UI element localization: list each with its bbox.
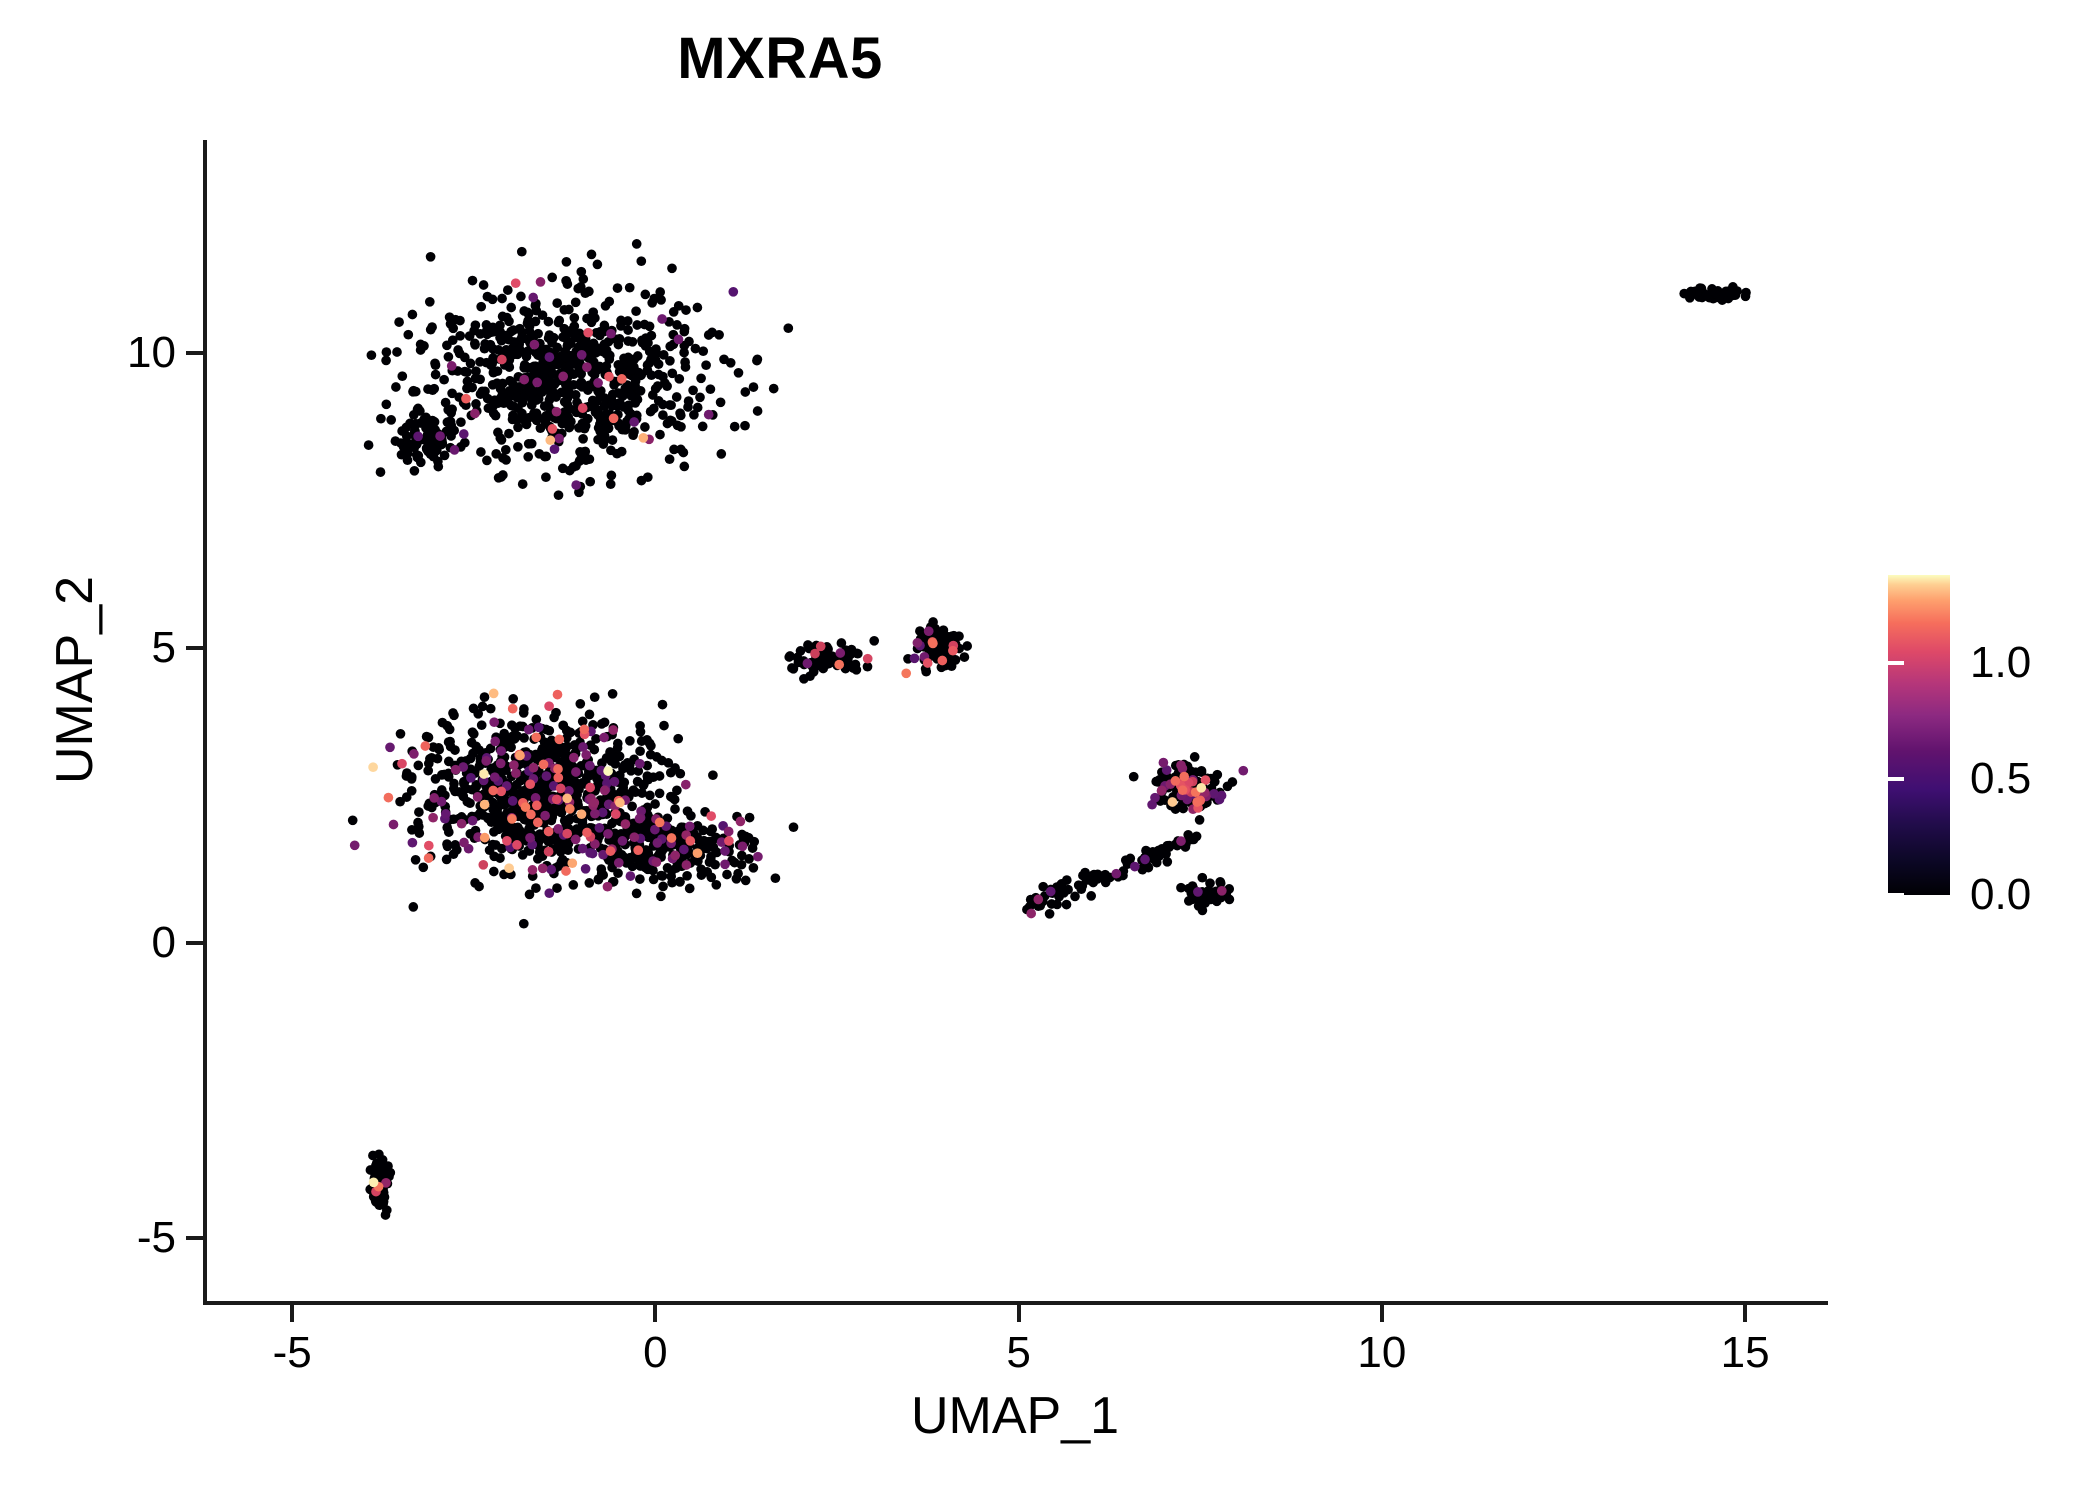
y-axis-line: [203, 140, 207, 1305]
scatter-point: [590, 692, 600, 702]
scatter-point: [580, 340, 590, 350]
scatter-point: [478, 702, 488, 712]
colorbar-tick-label: 0.0: [1970, 872, 2031, 918]
scatter-point: [1207, 893, 1217, 903]
scatter-point: [869, 636, 879, 646]
scatter-point: [816, 641, 826, 651]
scatter-point: [376, 467, 386, 477]
scatter-point: [516, 292, 526, 302]
scatter-point: [621, 819, 631, 829]
scatter-point: [803, 659, 813, 669]
scatter-point: [663, 758, 673, 768]
scatter-point: [583, 383, 593, 393]
scatter-point: [524, 439, 534, 449]
scatter-point: [679, 348, 689, 358]
scatter-point: [498, 312, 508, 322]
scatter-point: [720, 846, 730, 856]
scatter-point: [674, 374, 684, 384]
scatter-point: [679, 845, 689, 855]
scatter-point: [422, 732, 432, 742]
scatter-point: [684, 396, 694, 406]
scatter-point: [633, 351, 643, 361]
scatter-point: [686, 811, 696, 821]
scatter-point: [379, 1160, 389, 1170]
scatter-point: [549, 713, 559, 723]
scatter-point: [702, 844, 712, 854]
scatter-point: [456, 417, 466, 427]
scatter-point: [707, 328, 717, 338]
scatter-point: [666, 792, 676, 802]
scatter-point: [1741, 291, 1751, 301]
scatter-point: [541, 411, 551, 421]
scatter-point: [466, 773, 476, 783]
scatter-point: [769, 384, 779, 394]
scatter-point: [490, 737, 500, 747]
scatter-point: [368, 762, 378, 772]
scatter-point: [623, 325, 633, 335]
scatter-point: [667, 878, 677, 888]
scatter-point: [606, 329, 616, 339]
scatter-point: [418, 862, 428, 872]
scatter-point: [635, 874, 645, 884]
scatter-point: [1129, 772, 1139, 782]
scatter-point: [672, 320, 682, 330]
scatter-point: [702, 867, 712, 877]
y-tick-mark: [186, 351, 203, 355]
y-tick-label: -5: [16, 1215, 176, 1261]
scatter-point: [659, 721, 669, 731]
scatter-point: [385, 1168, 395, 1178]
scatter-point: [502, 836, 512, 846]
scatter-point: [440, 451, 450, 461]
scatter-point: [852, 665, 862, 675]
scatter-point: [623, 406, 633, 416]
scatter-point: [771, 873, 781, 883]
scatter-point: [698, 422, 708, 432]
scatter-point: [392, 347, 402, 357]
scatter-point: [603, 766, 613, 776]
scatter-point: [716, 449, 726, 459]
scatter-point: [532, 378, 542, 388]
x-tick-mark: [290, 1305, 294, 1322]
scatter-point: [529, 763, 539, 773]
scatter-point: [569, 313, 579, 323]
scatter-point: [1196, 783, 1206, 793]
scatter-point: [613, 868, 623, 878]
scatter-point: [552, 298, 562, 308]
scatter-point: [711, 880, 721, 890]
scatter-point: [473, 792, 483, 802]
scatter-point: [424, 853, 434, 863]
colorbar-tick-mark: [2072, 893, 2088, 897]
scatter-point: [910, 653, 920, 663]
scatter-point: [519, 375, 529, 385]
scatter-point: [504, 429, 514, 439]
scatter-point: [562, 829, 572, 839]
scatter-point: [730, 422, 740, 432]
scatter-point: [592, 346, 602, 356]
scatter-point: [575, 699, 585, 709]
scatter-point: [519, 733, 529, 743]
scatter-point: [466, 359, 476, 369]
scatter-point: [728, 287, 738, 297]
scatter-point: [581, 864, 591, 874]
scatter-point: [635, 759, 645, 769]
scatter-point: [536, 277, 546, 287]
scatter-point: [503, 285, 513, 295]
scatter-point: [685, 836, 695, 846]
scatter-point: [544, 827, 554, 837]
scatter-point: [403, 455, 413, 465]
scatter-point: [576, 267, 586, 277]
scatter-point: [571, 835, 581, 845]
scatter-point: [552, 407, 562, 417]
scatter-point: [675, 408, 685, 418]
x-tick-mark: [1743, 1305, 1747, 1322]
scatter-point: [1162, 857, 1172, 867]
scatter-point: [600, 431, 610, 441]
scatter-point: [497, 294, 507, 304]
scatter-point: [475, 357, 485, 367]
scatter-point: [701, 360, 711, 370]
scatter-point: [408, 902, 418, 912]
scatter-point: [834, 660, 844, 670]
scatter-point: [620, 760, 630, 770]
scatter-point: [419, 341, 429, 351]
scatter-point: [561, 744, 571, 754]
scatter-point: [609, 752, 619, 762]
scatter-point: [517, 247, 527, 257]
scatter-point: [603, 882, 613, 892]
scatter-point: [708, 770, 718, 780]
scatter-point: [455, 787, 465, 797]
scatter-point: [655, 771, 665, 781]
scatter-point: [651, 384, 661, 394]
scatter-point: [496, 746, 506, 756]
scatter-point: [796, 646, 806, 656]
scatter-point: [585, 710, 595, 720]
x-axis-line: [203, 1301, 1828, 1305]
x-tick-mark: [1017, 1305, 1021, 1322]
scatter-point: [510, 724, 520, 734]
scatter-point: [611, 809, 621, 819]
scatter-point: [589, 798, 599, 808]
scatter-point: [901, 668, 911, 678]
scatter-point: [681, 780, 691, 790]
scatter-point: [608, 689, 618, 699]
scatter-point: [450, 745, 460, 755]
scatter-point: [740, 387, 750, 397]
plot-panel: [205, 140, 1825, 1303]
scatter-point: [948, 646, 958, 656]
scatter-point: [386, 415, 396, 425]
scatter-point: [605, 351, 615, 361]
scatter-point: [600, 393, 610, 403]
scatter-point: [511, 768, 521, 778]
scatter-point: [658, 882, 668, 892]
scatter-point: [1176, 836, 1186, 846]
scatter-point: [530, 340, 540, 350]
scatter-point: [606, 846, 616, 856]
scatter-point: [423, 384, 433, 394]
scatter-point: [403, 438, 413, 448]
scatter-point: [477, 720, 487, 730]
scatter-point: [629, 417, 639, 427]
scatter-point: [632, 889, 642, 899]
scatter-point: [540, 811, 550, 821]
scatter-point: [544, 888, 554, 898]
scatter-point: [403, 330, 413, 340]
scatter-point: [519, 363, 529, 373]
scatter-point: [1100, 870, 1110, 880]
scatter-point: [1726, 288, 1736, 298]
scatter-point: [741, 876, 751, 886]
scatter-point: [716, 397, 726, 407]
scatter-point: [604, 372, 614, 382]
scatter-point: [525, 779, 535, 789]
scatter-point: [376, 414, 386, 424]
scatter-point: [551, 392, 561, 402]
scatter-point: [595, 327, 605, 337]
x-tick-mark: [653, 1305, 657, 1322]
scatter-point: [655, 818, 665, 828]
scatter-point: [426, 252, 436, 262]
scatter-point: [587, 250, 597, 260]
scatter-point: [540, 364, 550, 374]
x-tick-mark: [1380, 1305, 1384, 1322]
scatter-point: [544, 739, 554, 749]
scatter-point: [565, 466, 575, 476]
scatter-point: [476, 389, 486, 399]
scatter-point: [501, 455, 511, 465]
scatter-point: [656, 891, 666, 901]
scatter-point: [508, 704, 518, 714]
scatter-point: [753, 852, 763, 862]
scatter-point: [508, 694, 518, 704]
scatter-point: [693, 303, 703, 313]
scatter-point: [381, 399, 391, 409]
colorbar-legend: 0.00.51.0: [1888, 575, 2088, 905]
scatter-point: [480, 833, 490, 843]
scatter-point: [469, 729, 479, 739]
scatter-point: [455, 349, 465, 359]
scatter-point: [835, 648, 845, 658]
scatter-point: [913, 638, 923, 648]
scatter-point: [1228, 777, 1238, 787]
scatter-point: [745, 813, 755, 823]
scatter-point: [528, 865, 538, 875]
scatter-point: [737, 860, 747, 870]
scatter-point: [447, 361, 457, 371]
scatter-point: [394, 317, 404, 327]
scatter-point: [615, 798, 625, 808]
scatter-point: [381, 1210, 391, 1220]
scatter-point: [488, 786, 498, 796]
scatter-point: [1153, 846, 1163, 856]
scatter-point: [541, 452, 551, 462]
scatter-point: [670, 851, 680, 861]
scatter-point: [448, 708, 458, 718]
scatter-point: [637, 476, 647, 486]
scatter-point: [522, 352, 532, 362]
scatter-point: [348, 815, 358, 825]
scatter-point: [921, 667, 931, 677]
scatter-point: [658, 400, 668, 410]
scatter-point: [631, 376, 641, 386]
scatter-point: [528, 293, 538, 303]
scatter-point: [523, 452, 533, 462]
scatter-point: [424, 841, 434, 851]
scatter-point: [513, 422, 523, 432]
scatter-point: [479, 280, 489, 290]
scatter-point: [674, 301, 684, 311]
scatter-point: [544, 701, 554, 711]
scatter-point: [732, 874, 742, 884]
scatter-point: [486, 360, 496, 370]
scatter-point: [1111, 869, 1121, 879]
scatter-point: [506, 327, 516, 337]
scatter-point: [1178, 785, 1188, 795]
scatter-point: [724, 827, 734, 837]
scatter-point: [396, 729, 406, 739]
scatter-point: [395, 797, 405, 807]
scatter-point: [736, 817, 746, 827]
colorbar-tick-label: 1.0: [1970, 640, 2031, 686]
scatter-point: [489, 689, 499, 699]
scatter-point: [585, 761, 595, 771]
scatter-point: [410, 466, 420, 476]
scatter-point: [389, 820, 399, 830]
scatter-point: [635, 814, 645, 824]
scatter-point: [533, 414, 543, 424]
scatter-point: [562, 793, 572, 803]
scatter-point: [643, 775, 653, 785]
x-tick-label: 10: [1282, 1330, 1482, 1376]
scatter-point: [1052, 900, 1062, 910]
scatter-point: [455, 316, 465, 326]
scatter-point: [584, 878, 594, 888]
scatter-point: [681, 362, 691, 372]
scatter-point: [578, 434, 588, 444]
scatter-point: [635, 746, 645, 756]
scatter-point: [554, 734, 564, 744]
scatter-point: [805, 671, 815, 681]
scatter-point: [380, 1192, 390, 1202]
scatter-point: [646, 407, 656, 417]
scatter-point: [570, 741, 580, 751]
scatter-point: [468, 276, 478, 286]
scatter-point: [544, 847, 554, 857]
scatter-point: [446, 319, 456, 329]
scatter-point: [673, 420, 683, 430]
scatter-point: [626, 365, 636, 375]
scatter-point: [924, 626, 934, 636]
scatter-point: [518, 398, 528, 408]
scatter-point: [397, 759, 407, 769]
scatter-point: [693, 848, 703, 858]
scatter-point: [640, 422, 650, 432]
scatter-point: [623, 353, 633, 363]
scatter-point: [1192, 831, 1202, 841]
scatter-point: [576, 282, 586, 292]
scatter-point: [459, 429, 469, 439]
scatter-point: [863, 654, 873, 664]
scatter-point: [696, 373, 706, 383]
scatter-point: [493, 398, 503, 408]
scatter-point: [492, 378, 502, 388]
y-tick-mark: [186, 1236, 203, 1240]
scatter-point: [407, 772, 417, 782]
scatter-point: [449, 849, 459, 859]
scatter-point: [1192, 797, 1202, 807]
scatter-point: [1046, 887, 1056, 897]
scatter-point: [444, 827, 454, 837]
scatter-point: [484, 403, 494, 413]
scatter-point: [652, 857, 662, 867]
scatter-point: [505, 376, 515, 386]
feature-plot-figure: MXRA5 -50510 -5051015 UMAP_1 UMAP_2 0.00…: [0, 0, 2100, 1500]
scatter-point: [654, 370, 664, 380]
scatter-point: [720, 859, 730, 869]
scatter-point: [1026, 909, 1036, 919]
scatter-point: [704, 410, 714, 420]
scatter-point: [674, 335, 684, 345]
scatter-point: [531, 317, 541, 327]
scatter-point: [523, 318, 533, 328]
scatter-point: [513, 822, 523, 832]
scatter-point: [571, 480, 581, 490]
scatter-point: [423, 766, 433, 776]
scatter-point: [513, 442, 523, 452]
scatter-point: [489, 717, 499, 727]
colorbar-tick-mark: [2072, 661, 2088, 665]
scatter-point: [1695, 283, 1705, 293]
scatter-point: [567, 858, 577, 868]
scatter-point: [604, 297, 614, 307]
scatter-point: [561, 866, 571, 876]
scatter-point: [1045, 909, 1055, 919]
scatter-point: [960, 652, 970, 662]
scatter-point: [397, 371, 407, 381]
x-tick-label: 5: [919, 1330, 1119, 1376]
scatter-point: [533, 818, 543, 828]
scatter-point: [491, 449, 501, 459]
scatter-point: [554, 316, 564, 326]
scatter-point: [543, 379, 553, 389]
scatter-point: [1080, 868, 1090, 878]
scatter-point: [523, 307, 533, 317]
scatter-point: [429, 452, 439, 462]
scatter-point: [558, 720, 568, 730]
scatter-point: [679, 327, 689, 337]
scatter-point: [467, 738, 477, 748]
scatter-point: [693, 403, 703, 413]
scatter-point: [653, 838, 663, 848]
scatter-point: [385, 742, 395, 752]
scatter-point: [579, 725, 589, 735]
scatter-point: [496, 759, 506, 769]
scatter-point: [682, 860, 692, 870]
scatter-point: [538, 863, 548, 873]
colorbar-gradient: [1888, 575, 1950, 895]
scatter-point: [587, 317, 597, 327]
scatter-point: [506, 303, 516, 313]
scatter-point: [568, 880, 578, 890]
scatter-point: [425, 297, 435, 307]
scatter-point: [412, 419, 422, 429]
scatter-point: [635, 721, 645, 731]
scatter-point: [654, 359, 664, 369]
